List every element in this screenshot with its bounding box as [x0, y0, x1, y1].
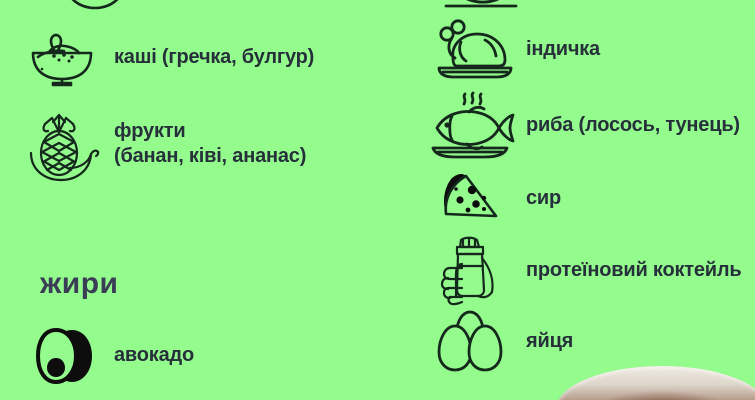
nutrition-infographic: каші (гречка, булгур) — [0, 0, 755, 400]
section-heading-fats: жири — [40, 267, 118, 301]
pineapple-banana-icon — [14, 104, 110, 184]
food-item-label: сир — [526, 186, 561, 211]
protein-shaker-icon — [424, 234, 520, 306]
vegetables-icon — [52, 0, 138, 14]
roast-turkey-icon — [424, 16, 520, 82]
eggs-icon — [424, 306, 520, 376]
food-item-eggs: яйця — [424, 306, 573, 376]
meat-icon — [436, 0, 526, 12]
porridge-bowl-icon — [14, 26, 110, 88]
avocado-icon — [14, 324, 110, 386]
food-item-label: індичка — [526, 37, 600, 62]
food-item-protein-shake: протеїновий коктейль — [424, 234, 741, 306]
smoothie-bowl-photo — [556, 366, 755, 400]
cheese-wedge-icon — [424, 168, 520, 228]
food-item-label: авокадо — [114, 343, 194, 368]
food-item-fish: риба (лосось, тунець) — [424, 90, 740, 160]
food-item-turkey: індичка — [424, 16, 600, 82]
food-item-cheese: сир — [424, 168, 561, 228]
food-item-label: протеїновий коктейль — [526, 258, 741, 283]
food-item-porridge: каші (гречка, булгур) — [14, 26, 314, 88]
food-item-label: фрукти (банан, ківі, ананас) — [114, 119, 306, 169]
food-item-label: яйця — [526, 329, 573, 354]
food-item-avocado: авокадо — [14, 324, 194, 386]
food-item-label: риба (лосось, тунець) — [526, 113, 740, 138]
food-item-fruits: фрукти (банан, ківі, ананас) — [14, 104, 306, 184]
food-item-label: каші (гречка, булгур) — [114, 45, 314, 70]
fish-plate-icon — [424, 90, 520, 160]
